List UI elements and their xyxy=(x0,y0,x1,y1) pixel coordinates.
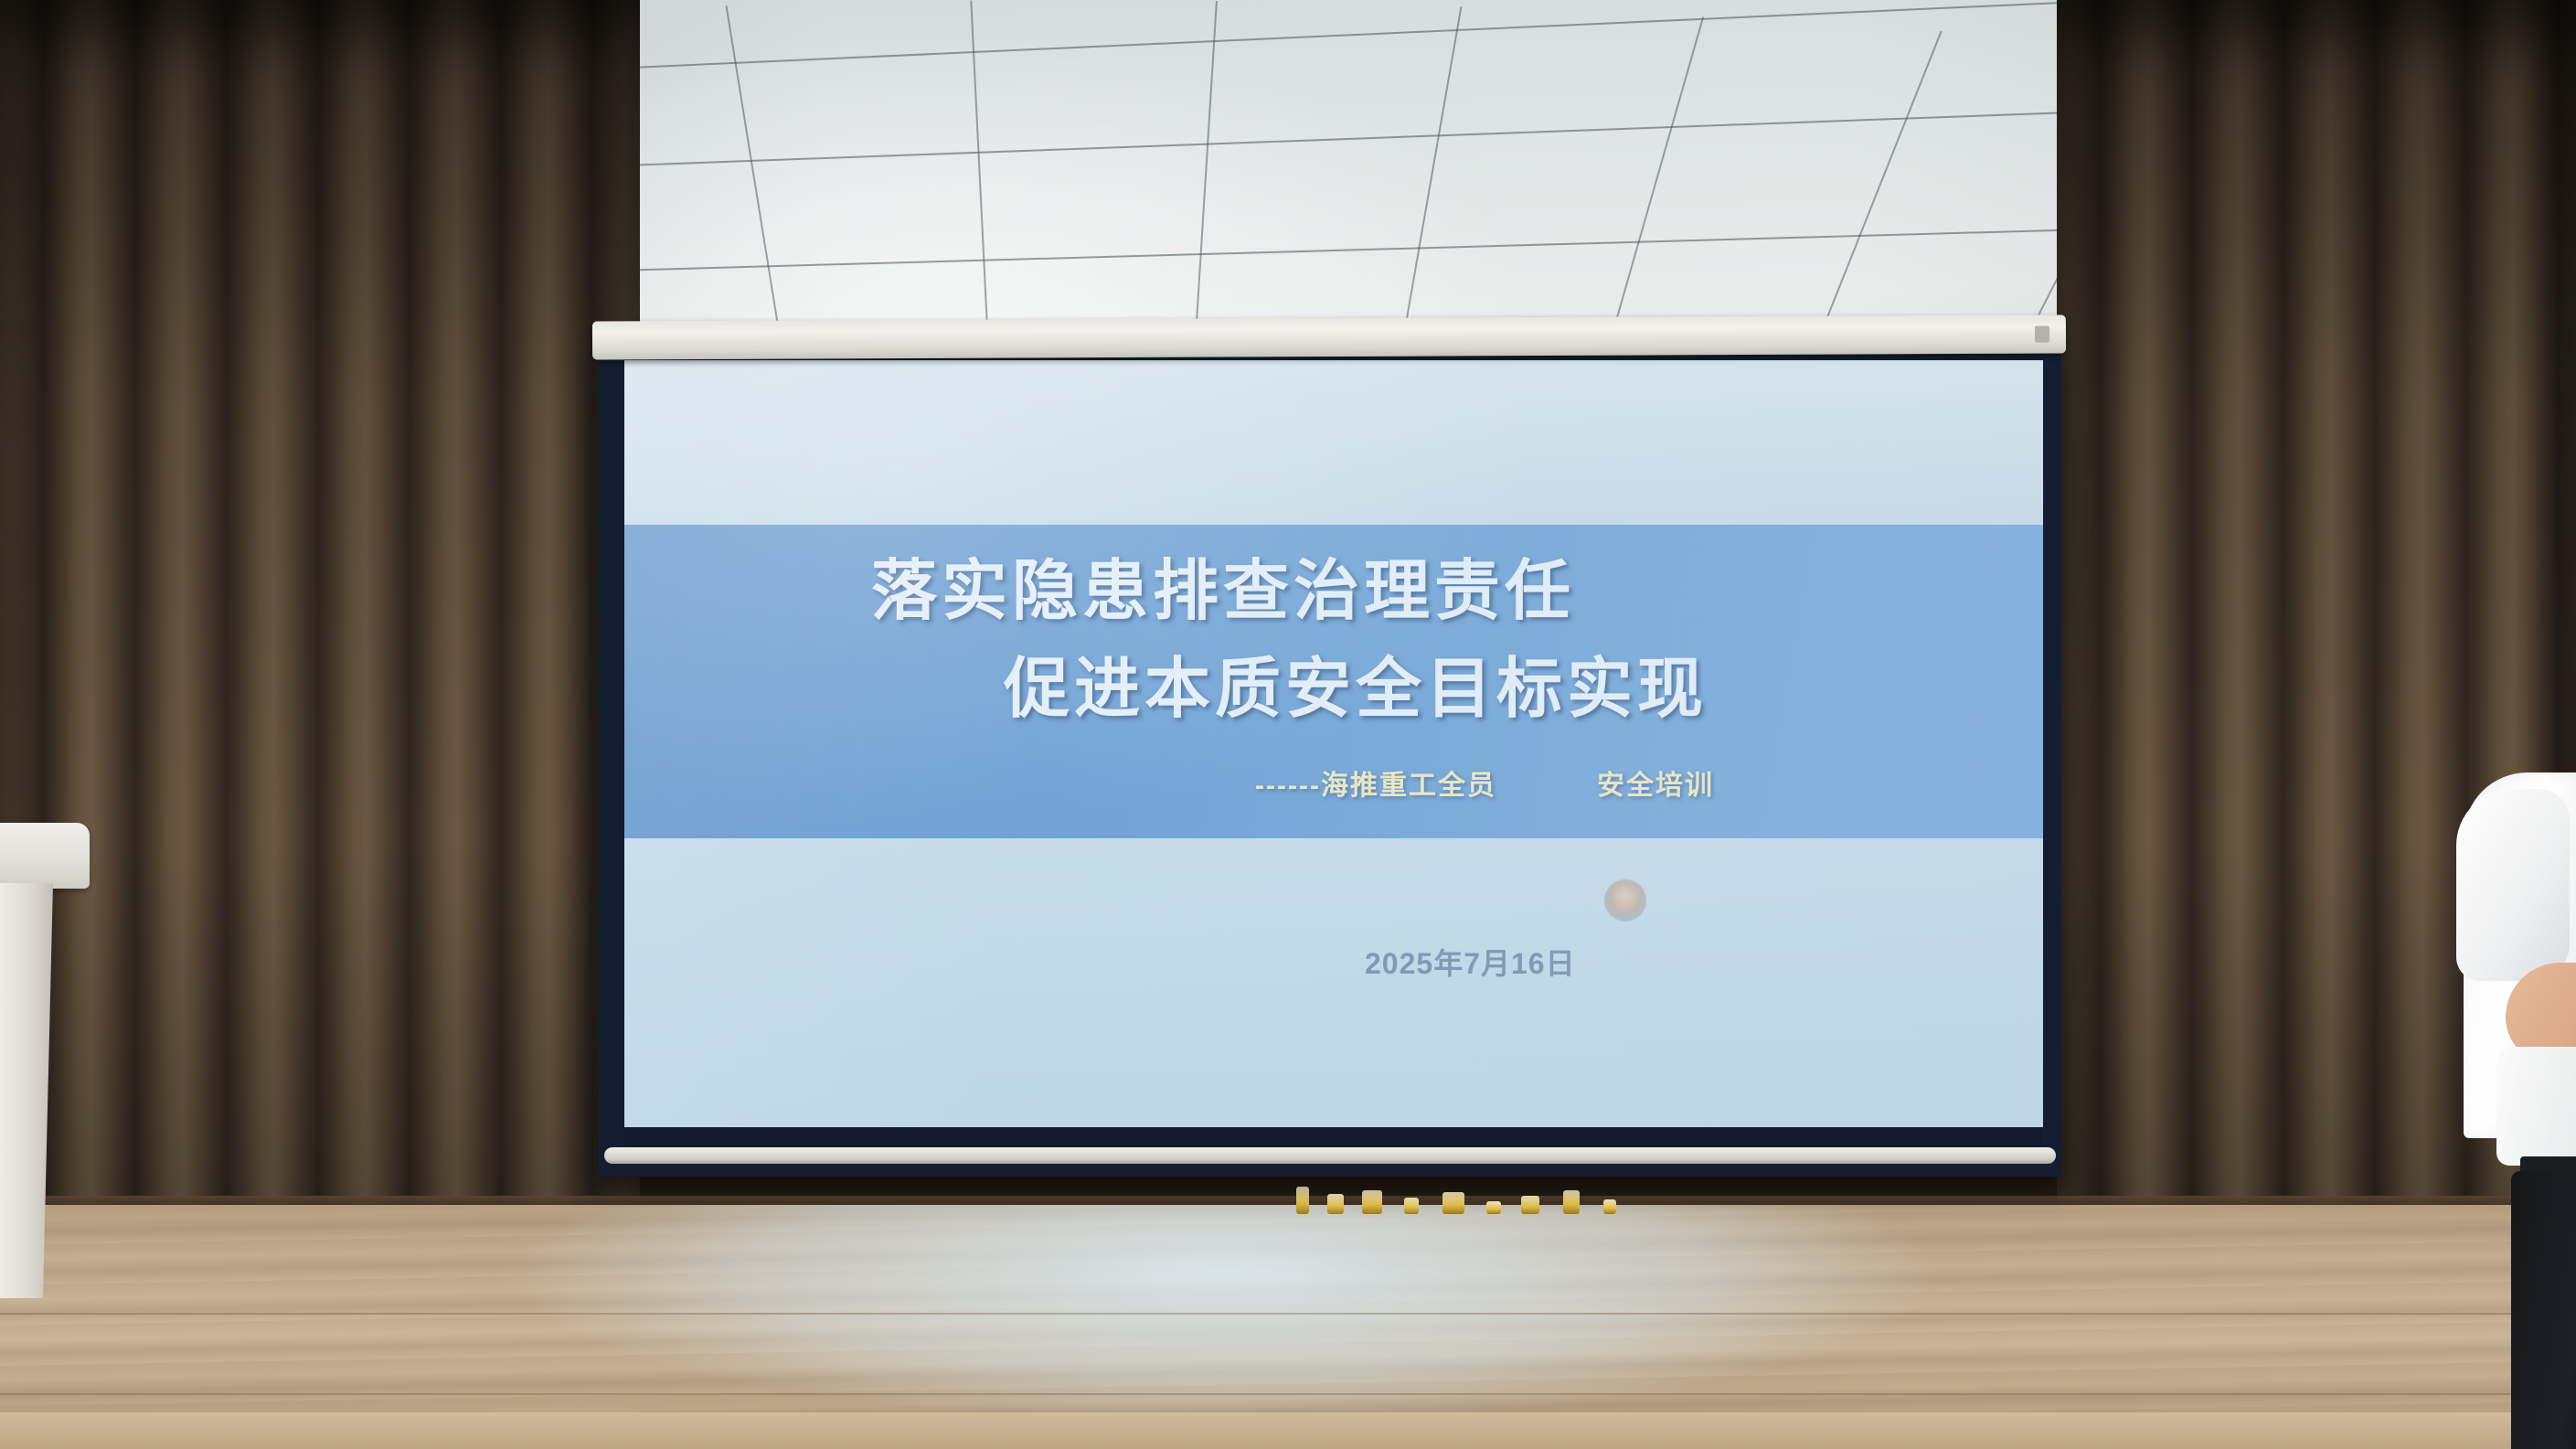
lectern-top xyxy=(0,823,90,889)
person-sleeve xyxy=(2456,789,2570,981)
projector-screen: 落实隐患排查治理责任 促进本质安全目标实现 ------海推重工全员 安全培训 … xyxy=(599,349,2061,1177)
lectern xyxy=(0,823,90,1298)
conference-room-scene: 落实隐患排查治理责任 促进本质安全目标实现 ------海推重工全员 安全培训 … xyxy=(0,0,2576,1449)
slide-title-line-2: 促进本质安全目标实现 xyxy=(1004,634,1708,730)
lectern-column xyxy=(0,883,53,1298)
person-trousers xyxy=(2511,1171,2576,1449)
slide-subtitle-row: ------海推重工全员 安全培训 xyxy=(1255,762,1714,803)
person-standing xyxy=(2436,772,2576,1449)
person-shirt-lower xyxy=(2496,1047,2576,1166)
floor-seam xyxy=(0,1393,2576,1395)
slide-upper-panel xyxy=(624,360,2043,525)
slide-title-line-1: 落实隐患排查治理责任 xyxy=(871,537,1575,633)
floor-seam xyxy=(0,1313,2576,1315)
slide-date: 2025年7月16日 xyxy=(1365,941,1576,983)
slide-subtitle-right: 安全培训 xyxy=(1597,762,1714,803)
projection-surface: 落实隐患排查治理责任 促进本质安全目标实现 ------海推重工全员 安全培训 … xyxy=(624,360,2043,1146)
screen-control-button[interactable] xyxy=(2035,326,2049,343)
floor-front-strip xyxy=(0,1412,2576,1449)
screen-weight-bar xyxy=(604,1147,2056,1164)
under-screen-decorative-lights xyxy=(1289,1181,1709,1214)
slide-subtitle-left: ------海推重工全员 xyxy=(1255,762,1496,803)
projector-screen-housing[interactable] xyxy=(592,314,2066,359)
slide-lower-panel xyxy=(624,838,2043,1146)
avatar xyxy=(1604,879,1646,922)
screen-lower-black-band xyxy=(624,1127,2043,1147)
